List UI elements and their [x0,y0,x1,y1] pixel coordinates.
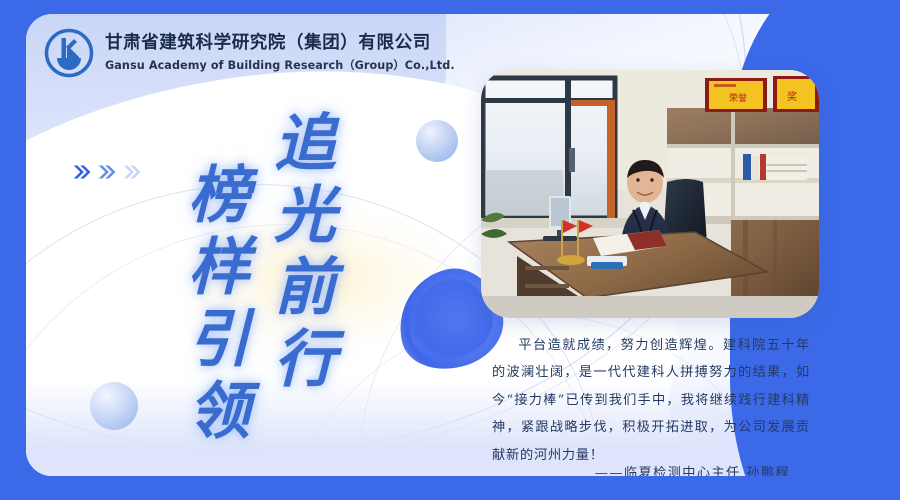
svg-text:奖: 奖 [787,90,797,103]
company-logo-icon [44,28,94,78]
double-chevron-right-icon [122,164,140,180]
double-chevron-right-icon [97,164,115,180]
brand-name-cn: 甘肃省建筑科学研究院（集团）有限公司 [105,33,455,55]
poster-canvas: 甘肃省建筑科学研究院（集团）有限公司 Gansu Academy of Buil… [0,0,900,500]
quote-attribution: ——临夏检测中心主任 孙鹏程 [595,462,790,476]
svg-text:荣誉: 荣誉 [729,92,747,104]
brand-header: 甘肃省建筑科学研究院（集团）有限公司 Gansu Academy of Buil… [44,28,455,78]
portrait-photo: 荣誉 奖 [481,70,819,318]
brand-name-en: Gansu Academy of Building Research（Group… [105,57,455,73]
headline-column-right: 追光前行 [254,110,344,398]
headline-column-left: 榜样引领 [168,162,258,450]
decor-gradient-ball [416,120,458,162]
content-card: 甘肃省建筑科学研究院（集团）有限公司 Gansu Academy of Buil… [26,14,900,476]
double-chevron-right-icon [72,164,90,180]
quote-body: 平台造就成绩，努力创造辉煌。建科院五十年的波澜壮阔，是一代代建科人拼搏努力的结果… [492,332,810,469]
decor-gradient-ball [90,382,138,430]
brand-text-block: 甘肃省建筑科学研究院（集团）有限公司 Gansu Academy of Buil… [105,33,455,74]
chevron-decoration [72,164,140,180]
